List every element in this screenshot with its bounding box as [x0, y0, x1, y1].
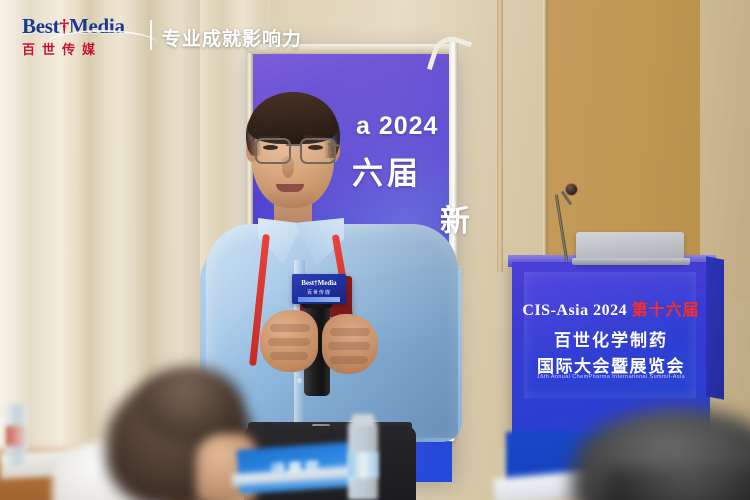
watermark-tagline: 专业成就影响力 — [162, 24, 302, 51]
water-bottle-label — [348, 452, 378, 478]
speaker-hand-left — [260, 310, 318, 372]
conference-photo: a 2024 六届 新 会 研发 影响力 — [0, 0, 750, 500]
watermark-overlay: Best†Media 百世传媒 专业成就影响力 — [0, 0, 750, 70]
microphone-flag-brand: Best†Media — [292, 279, 346, 287]
finger — [270, 324, 310, 332]
audience-member-shoulder-right — [606, 470, 750, 500]
finger — [270, 352, 308, 360]
brand-word-best: Best — [22, 14, 59, 38]
water-bottle-cap — [352, 414, 374, 426]
eyeglasses-lens-right — [300, 138, 336, 164]
microphone-flag-brand-cn: 百世传媒 — [292, 289, 346, 296]
podium-title-en: CIS-Asia 2024 — [522, 302, 627, 319]
microphone-flag: Best†Media 百世传媒 — [292, 274, 346, 304]
finger — [268, 338, 310, 346]
audience-member-hair-left — [138, 366, 242, 444]
speaker-nose — [282, 156, 294, 178]
eyeglasses-bridge — [286, 144, 301, 146]
finger — [330, 356, 368, 364]
speaker-hand-right — [322, 314, 378, 374]
watermark-divider — [150, 20, 152, 50]
water-bottle-label — [6, 426, 28, 446]
finger — [328, 342, 370, 350]
podium-title-cn-red: 第十六届 — [632, 302, 700, 319]
podium-line4-english: 16th Annual ChemPharma International Sum… — [512, 374, 710, 380]
brand-logo: Best†Media 百世传媒 — [22, 16, 140, 58]
podium-title-row: CIS-Asia 2024 第十六届 — [512, 296, 710, 320]
podium-line2: 百世化学制药 — [512, 326, 710, 351]
speaker-chin — [268, 190, 314, 208]
microphone-flag-bar — [298, 297, 340, 302]
shirt-button — [297, 378, 302, 383]
finger — [330, 328, 370, 336]
